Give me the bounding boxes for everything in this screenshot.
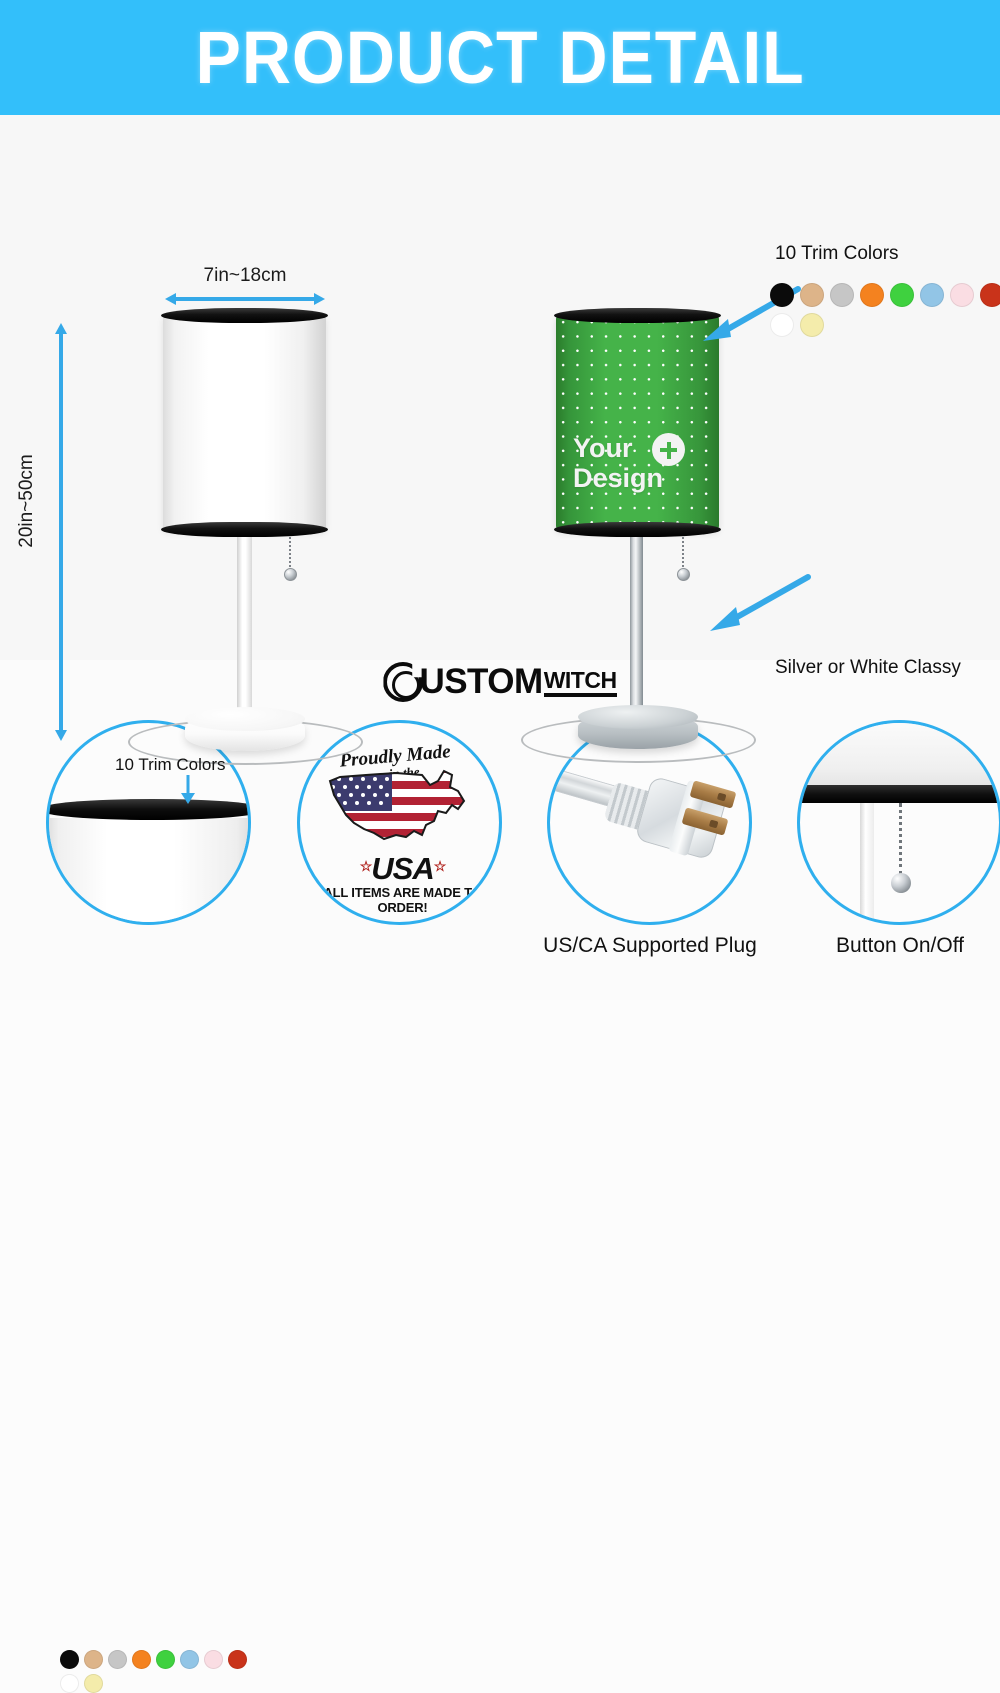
pull-chain-ball[interactable] <box>284 568 297 581</box>
shade-surface <box>163 315 326 530</box>
brand-sub-text: WITCH <box>544 668 617 697</box>
brand-logo: USTOM WITCH <box>0 662 1000 702</box>
pull-chain-ball[interactable] <box>677 568 690 581</box>
trim-colors-circle-label: 10 Trim Colors <box>115 755 226 775</box>
product-detail-page: PRODUCT DETAIL 7in~18cm 20in~50cm <box>0 0 1000 1000</box>
trim-swatch-pink[interactable] <box>950 283 974 307</box>
trim-swatch-orange[interactable] <box>132 1650 151 1669</box>
design-placeholder-text: Your Design <box>556 433 719 493</box>
lamp-pole <box>237 527 252 727</box>
lamp-base-top <box>578 705 698 729</box>
page-title: PRODUCT DETAIL <box>195 15 804 100</box>
shade-surface <box>556 315 719 530</box>
trim-swatch-black[interactable] <box>770 283 794 307</box>
shade-trim-top <box>161 308 328 323</box>
width-dimension-arrow <box>165 293 325 305</box>
lamp-shade: Your Design <box>556 315 719 530</box>
trim-swatch-red[interactable] <box>228 1650 247 1669</box>
trim-color-swatches-bottom[interactable] <box>60 1650 266 1693</box>
arrow-head-right <box>314 293 325 305</box>
design-line-1: Your <box>573 433 633 463</box>
pull-chain-line <box>289 533 291 571</box>
trim-swatch-black[interactable] <box>60 1650 79 1669</box>
trim-band-closeup <box>46 799 251 820</box>
usa-map-flag-icon <box>326 765 481 858</box>
pull-chain-line-closeup <box>899 803 902 875</box>
button-caption: Button On/Off <box>760 934 1000 958</box>
shade-closeup <box>46 818 251 925</box>
main-product-stage: 7in~18cm 20in~50cm <box>0 115 1000 660</box>
header-banner: PRODUCT DETAIL <box>0 0 1000 115</box>
lamp-pole <box>630 527 643 727</box>
plug-caption: US/CA Supported Plug <box>500 934 800 958</box>
trim-colors-title: 10 Trim Colors <box>775 243 899 265</box>
star-left-icon: ☆ <box>360 858 372 874</box>
design-line-2: Design <box>573 463 663 493</box>
trim-swatch-orange[interactable] <box>860 283 884 307</box>
hardware-callout-arrow-icon <box>700 567 815 637</box>
pull-chain-ball-closeup[interactable] <box>891 873 911 893</box>
shade-closeup <box>797 720 1000 791</box>
trim-swatch-green[interactable] <box>890 283 914 307</box>
trim-swatch-gray[interactable] <box>830 283 854 307</box>
trim-swatch-tan[interactable] <box>800 283 824 307</box>
height-dimension-label: 20in~50cm <box>16 421 38 581</box>
trim-swatch-yellow[interactable] <box>800 313 824 337</box>
trim-color-swatches-top[interactable] <box>770 283 1000 337</box>
feature-circle <box>797 720 1000 925</box>
trim-swatch-white[interactable] <box>60 1674 79 1693</box>
shade-trim-bottom <box>161 522 328 537</box>
plus-circle-icon <box>652 433 685 466</box>
trim-swatch-gray[interactable] <box>108 1650 127 1669</box>
feature-row: 10 Trim Colors Proudly Made in the <box>0 712 1000 1000</box>
lamp-pole-closeup <box>860 803 874 925</box>
trim-swatch-light-blue[interactable] <box>920 283 944 307</box>
lamp-shade <box>163 315 326 530</box>
usa-text: USA <box>371 851 433 886</box>
lamp-base-top <box>185 707 305 731</box>
usa-tagline: ALL ITEMS ARE MADE TO ORDER! <box>300 885 502 915</box>
trim-swatch-white[interactable] <box>770 313 794 337</box>
trim-band-closeup <box>797 785 1000 803</box>
pull-chain-line <box>682 533 684 571</box>
trim-swatch-light-blue[interactable] <box>180 1650 199 1669</box>
trim-swatch-red[interactable] <box>980 283 1000 307</box>
shade-trim-top <box>554 308 721 323</box>
usa-word: ☆USA☆ <box>300 851 502 887</box>
trim-swatch-tan[interactable] <box>84 1650 103 1669</box>
arrow-bar <box>173 297 317 301</box>
star-right-icon: ☆ <box>434 858 446 874</box>
trim-swatch-pink[interactable] <box>204 1650 223 1669</box>
trim-swatch-green[interactable] <box>156 1650 175 1669</box>
shade-trim-bottom <box>554 522 721 537</box>
brand-c-ring-icon <box>383 662 423 702</box>
brand-main-text: USTOM <box>419 662 542 702</box>
down-arrow-icon <box>179 775 197 810</box>
width-dimension-label: 7in~18cm <box>165 265 325 287</box>
trim-swatch-yellow[interactable] <box>84 1674 103 1693</box>
